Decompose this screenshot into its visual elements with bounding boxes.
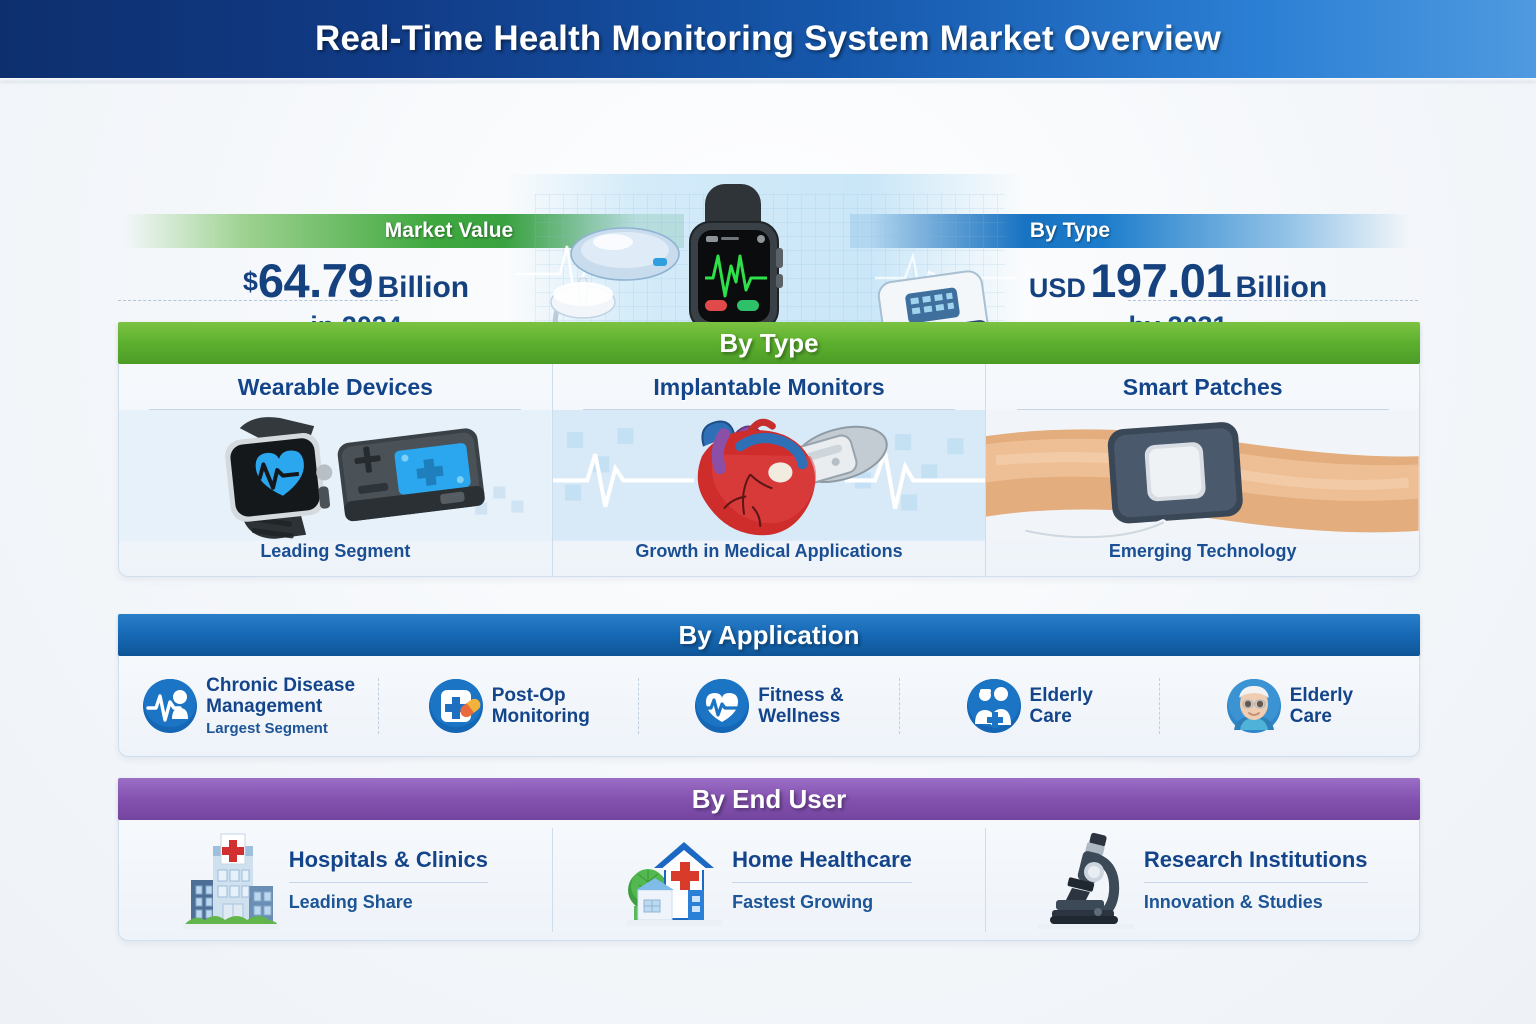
smartwatch-icon xyxy=(119,410,552,541)
app-item-text: Chronic Disease Management Largest Segme… xyxy=(206,675,355,738)
heart-pulse-glyph xyxy=(694,678,750,734)
by-application-band: By Application xyxy=(118,614,1420,656)
by-type-body: Wearable Devices xyxy=(118,364,1420,577)
microscope-icon xyxy=(1038,828,1134,932)
infographic-page: Real-Time Health Monitoring System Marke… xyxy=(0,0,1536,1024)
heart-pacemaker-artwork xyxy=(553,410,986,541)
app-item-label-line2: Management xyxy=(206,696,355,717)
end-user-item-sublabel: Innovation & Studies xyxy=(1144,892,1368,913)
by-end-user-band-label: By End User xyxy=(692,784,847,815)
end-user-item-label: Home Healthcare xyxy=(732,847,912,873)
header-divider xyxy=(0,78,1536,83)
forecast-value-number: 197.01 xyxy=(1090,254,1231,307)
app-item-text: Elderly Care xyxy=(1290,685,1353,728)
type-card-title: Smart Patches xyxy=(1123,374,1283,401)
market-value-band-label: Market Value xyxy=(385,219,513,243)
end-user-item-rule xyxy=(289,882,488,883)
end-user-item-sublabel: Fastest Growing xyxy=(732,892,912,913)
market-value-figure: $64.79 Billion xyxy=(126,256,586,305)
medkit-pill-glyph xyxy=(428,678,484,734)
forecast-value-figure: USD 197.01 Billion xyxy=(948,256,1408,305)
caregiver-icon xyxy=(966,678,1022,734)
caregiver-glyph xyxy=(966,678,1022,734)
app-item-text: Post-Op Monitoring xyxy=(492,685,590,728)
app-item-label-line2: Monitoring xyxy=(492,706,590,727)
heart-pulse-icon xyxy=(694,678,750,734)
end-user-item-text: Home Healthcare Fastest Growing xyxy=(732,847,912,913)
senior-person-icon xyxy=(1226,678,1282,734)
end-user-item-research-institutions[interactable]: Research Institutions Innovation & Studi… xyxy=(985,828,1419,932)
app-item-label-line1: Post-Op xyxy=(492,685,590,706)
by-type-grid: Wearable Devices xyxy=(119,364,1419,576)
app-item-label-line1: Elderly xyxy=(1030,685,1093,706)
home-health-icon xyxy=(626,828,722,932)
app-item-post-op-monitoring[interactable]: Post-Op Monitoring xyxy=(378,678,638,734)
end-user-item-text: Research Institutions Innovation & Studi… xyxy=(1144,847,1368,913)
currency-prefix: USD xyxy=(1029,273,1086,303)
by-end-user-band: By End User xyxy=(118,778,1420,820)
end-user-item-hospitals-clinics[interactable]: Hospitals & Clinics Leading Share xyxy=(119,828,552,932)
app-item-elderly-care-2[interactable]: Elderly Care xyxy=(1159,678,1419,734)
medkit-pill-icon xyxy=(428,678,484,734)
type-card-wearable-devices[interactable]: Wearable Devices xyxy=(119,364,552,576)
hospital-building-glyph xyxy=(183,828,279,932)
by-end-user-body: Hospitals & Clinics Leading Share xyxy=(118,820,1420,941)
ecg-patient-icon xyxy=(142,678,198,734)
app-item-label-line1: Elderly xyxy=(1290,685,1353,706)
end-user-item-label: Hospitals & Clinics xyxy=(289,847,488,873)
skin-patch-artwork xyxy=(986,410,1419,541)
type-card-implantable-monitors[interactable]: Implantable Monitors xyxy=(552,364,986,576)
section-by-application: By Application Chronic Dise xyxy=(118,614,1420,757)
by-type-value-band-label: By Type xyxy=(1030,219,1110,243)
app-item-label-line2: Care xyxy=(1290,706,1353,727)
app-item-chronic-disease-management[interactable]: Chronic Disease Management Largest Segme… xyxy=(119,675,378,738)
end-user-item-text: Hospitals & Clinics Leading Share xyxy=(289,847,488,913)
by-application-band-label: By Application xyxy=(678,620,859,651)
app-item-label-line2: Care xyxy=(1030,706,1093,727)
by-type-band-label: By Type xyxy=(719,328,818,359)
market-value-unit: Billion xyxy=(377,271,469,304)
home-health-glyph xyxy=(626,828,722,932)
by-application-grid: Chronic Disease Management Largest Segme… xyxy=(119,656,1419,756)
by-application-body: Chronic Disease Management Largest Segme… xyxy=(118,656,1420,757)
top-stats-region: Market Value By Type xyxy=(0,86,1536,316)
section-by-type: By Type Wearable Devices xyxy=(118,322,1420,577)
app-item-label-line1: Chronic Disease xyxy=(206,675,355,696)
page-title: Real-Time Health Monitoring System Marke… xyxy=(315,19,1221,59)
end-user-item-rule xyxy=(1144,882,1368,883)
app-item-fitness-wellness[interactable]: Fitness & Wellness xyxy=(638,678,898,734)
smartwatch-artwork xyxy=(119,410,552,541)
by-end-user-grid: Hospitals & Clinics Leading Share xyxy=(119,820,1419,940)
type-card-caption: Growth in Medical Applications xyxy=(635,541,902,562)
skin-patch-icon xyxy=(986,410,1419,541)
type-card-title: Wearable Devices xyxy=(238,374,433,401)
end-user-item-label: Research Institutions xyxy=(1144,847,1368,873)
app-item-label-line1: Fitness & xyxy=(758,685,844,706)
type-card-title: Implantable Monitors xyxy=(653,374,884,401)
header-bar: Real-Time Health Monitoring System Marke… xyxy=(0,0,1536,78)
end-user-item-home-healthcare[interactable]: Home Healthcare Fastest Growing xyxy=(552,828,986,932)
end-user-item-rule xyxy=(732,882,912,883)
type-card-caption: Leading Segment xyxy=(260,541,410,562)
section-by-end-user: By End User xyxy=(118,778,1420,941)
hospital-building-icon xyxy=(183,828,279,932)
type-card-caption: Emerging Technology xyxy=(1109,541,1297,562)
end-user-item-sublabel: Leading Share xyxy=(289,892,488,913)
currency-symbol: $ xyxy=(243,267,258,297)
market-value-number: 64.79 xyxy=(258,254,373,307)
type-card-smart-patches[interactable]: Smart Patches xyxy=(985,364,1419,576)
app-item-elderly-care-1[interactable]: Elderly Care xyxy=(899,678,1159,734)
by-type-band: By Type xyxy=(118,322,1420,364)
microscope-glyph xyxy=(1038,828,1134,932)
forecast-value-unit: Billion xyxy=(1236,271,1328,304)
app-item-sublabel: Largest Segment xyxy=(206,720,355,737)
senior-person-glyph xyxy=(1226,678,1282,734)
app-item-text: Fitness & Wellness xyxy=(758,685,844,728)
heart-pacemaker-icon xyxy=(553,410,986,541)
ecg-patient-glyph xyxy=(142,678,198,734)
app-item-label-line2: Wellness xyxy=(758,706,844,727)
app-item-text: Elderly Care xyxy=(1030,685,1093,728)
